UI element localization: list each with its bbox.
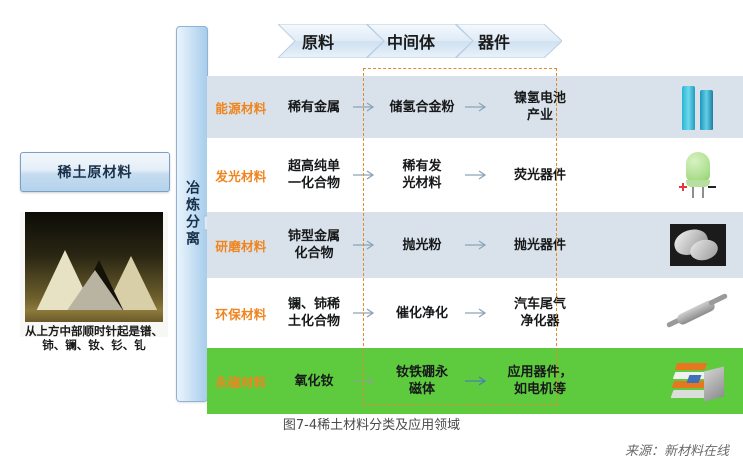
figure-caption: 图7-4稀土材料分类及应用领域: [0, 414, 743, 433]
row-intermediate-cell: 储氢合金粉: [379, 99, 465, 116]
arrow-right-icon: [353, 307, 379, 319]
row-raw-line1: 镧、铈稀: [275, 296, 353, 313]
row-raw-cell: 氧化钕: [275, 373, 353, 390]
row-device-line2: 如电机等: [491, 381, 589, 398]
row-raw-cell: 超高纯单 一化合物: [275, 158, 353, 192]
row-device-line1: 汽车尾气: [491, 296, 589, 313]
row-intermediate-line2: 磁体: [379, 381, 465, 398]
row-intermediate-cell: 稀有发 光材料: [379, 158, 465, 192]
smelting-separation-label: 冶炼分离: [177, 27, 207, 401]
row-raw-cell: 镧、铈稀 土化合物: [275, 296, 353, 330]
row-category-label: 能源材料: [207, 98, 275, 117]
arrow-right-icon: [353, 375, 379, 387]
row-raw-cell: 稀有金属: [275, 99, 353, 116]
raw-material-box: 稀土原材料: [20, 152, 170, 192]
row-device-cell: 应用器件， 如电机等: [491, 364, 589, 398]
row-category-label: 永磁材料: [207, 372, 275, 391]
rare-earth-oxide-powders-photo: [25, 212, 163, 322]
table-row: 研磨材料 铈型金属 化合物 抛光粉 抛光器件: [207, 212, 743, 278]
row-raw-line1: 超高纯单: [275, 158, 353, 175]
row-device-cell: 镍氢电池 产业: [491, 90, 589, 124]
raw-material-label: 稀土原材料: [58, 162, 133, 182]
row-device-line1: 镍氢电池: [491, 90, 589, 107]
polished-metal-part-image: [663, 212, 733, 278]
row-intermediate-line1: 稀有发: [379, 158, 465, 175]
rare-earth-photo-card: 从上方中部顺时针起是镨、铈、镧、钕、钐、钆: [20, 212, 168, 337]
row-intermediate-cell: 钕铁硼永 磁体: [379, 364, 465, 398]
table-row: 能源材料 稀有金属 储氢合金粉 镍氢电池 产业: [207, 76, 743, 138]
photo-caption: 从上方中部顺时针起是镨、铈、镧、钕、钐、钆: [20, 324, 168, 352]
stage-header-raw-label: 原料: [302, 29, 334, 53]
electric-motor-stator-image: [663, 348, 733, 414]
arrow-right-icon: [353, 169, 379, 181]
stage-header-device-label: 器件: [478, 29, 510, 53]
row-category-label: 发光材料: [207, 166, 275, 185]
table-row: 永磁材料 氧化钕 钕铁硼永 磁体 应用器件， 如电机等: [207, 348, 743, 414]
row-device-cell: 荧光器件: [491, 167, 589, 184]
row-raw-line1: 铈型金属: [275, 228, 353, 245]
arrow-right-icon: [353, 239, 379, 251]
row-intermediate-line2: 光材料: [379, 175, 465, 192]
table-row: 发光材料 超高纯单 一化合物 稀有发 光材料 荧光器件: [207, 138, 743, 212]
row-device-cell: 汽车尾气 净化器: [491, 296, 589, 330]
row-intermediate-cell: 抛光粉: [379, 237, 465, 254]
green-led-diagram-image: [663, 138, 733, 212]
row-raw-line2: 化合物: [275, 245, 353, 262]
arrow-right-icon: [465, 375, 491, 387]
stage-header-device: 器件: [456, 24, 562, 58]
row-raw-cell: 铈型金属 化合物: [275, 228, 353, 262]
nimh-battery-cells-image: [663, 76, 733, 138]
figure-source: 来源：新材料在线: [625, 440, 729, 459]
row-intermediate-cell: 催化净化: [379, 305, 465, 322]
row-raw-line2: 土化合物: [275, 313, 353, 330]
catalytic-converter-diagram-image: [663, 278, 733, 348]
material-category-table: 能源材料 稀有金属 储氢合金粉 镍氢电池 产业 发光材料 超高纯单 一化合物: [207, 76, 743, 404]
row-category-label: 环保材料: [207, 304, 275, 323]
row-category-label: 研磨材料: [207, 236, 275, 255]
table-row: 环保材料 镧、铈稀 土化合物 催化净化 汽车尾气 净化器: [207, 278, 743, 348]
arrow-right-icon: [465, 169, 491, 181]
row-raw-line2: 一化合物: [275, 175, 353, 192]
figure-canvas: 稀土原材料 从上方中部顺时针起是镨、铈、镧、钕、钐、钆 冶炼分离 原料: [0, 0, 743, 469]
stage-header-intermediate-label: 中间体: [387, 29, 435, 53]
arrow-right-icon: [465, 307, 491, 319]
row-device-cell: 抛光器件: [491, 237, 589, 254]
arrow-right-icon: [465, 239, 491, 251]
row-device-line2: 产业: [491, 107, 589, 124]
arrow-right-icon: [465, 101, 491, 113]
row-device-line2: 净化器: [491, 313, 589, 330]
row-intermediate-line1: 钕铁硼永: [379, 364, 465, 381]
row-device-line1: 应用器件，: [491, 364, 589, 381]
arrow-right-icon: [353, 101, 379, 113]
